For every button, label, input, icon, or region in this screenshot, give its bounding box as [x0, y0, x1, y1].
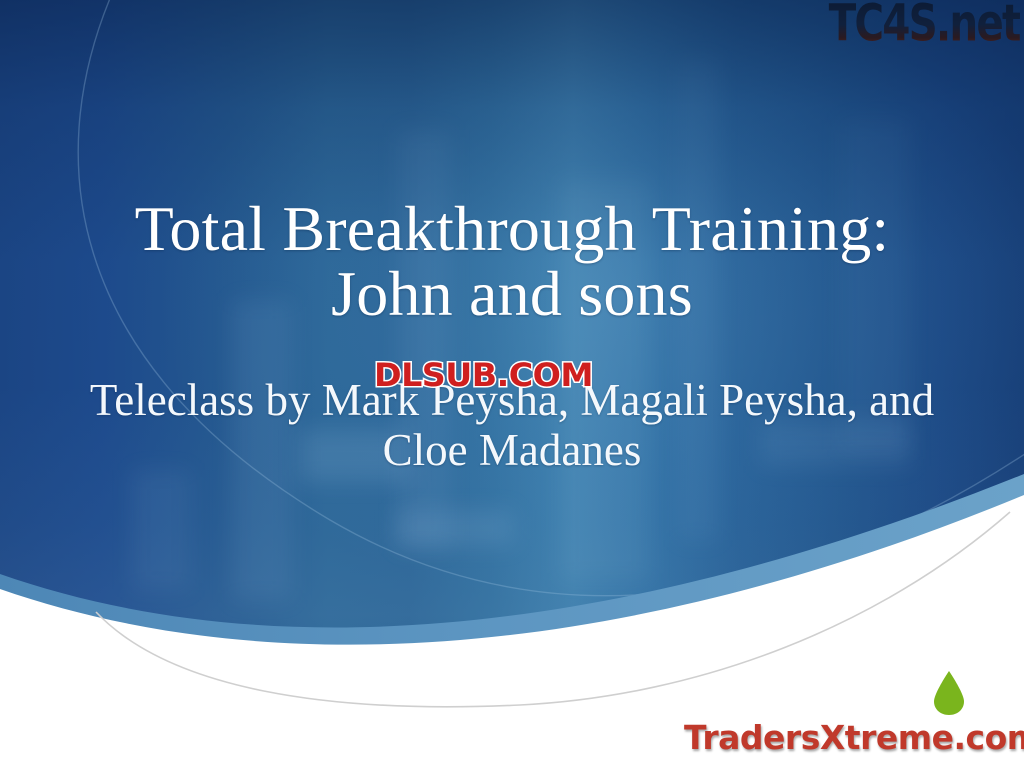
- page-subtitle-line-2: Cloe Madanes: [383, 425, 642, 475]
- page-title-line-2: John and sons: [331, 258, 693, 329]
- watermark-tc4s: TC4S.net: [829, 0, 1020, 53]
- watermark-tradersxtreme: TradersXtreme.com: [684, 718, 1024, 757]
- page-title-line-1: Total Breakthrough Training:: [135, 193, 890, 264]
- presentation-slide: Total Breakthrough Training: John and so…: [0, 0, 1024, 768]
- green-droplet-icon: [931, 670, 967, 716]
- watermark-dlsub: DLSUB.COM: [374, 356, 593, 394]
- page-title: Total Breakthrough Training: John and so…: [50, 196, 974, 327]
